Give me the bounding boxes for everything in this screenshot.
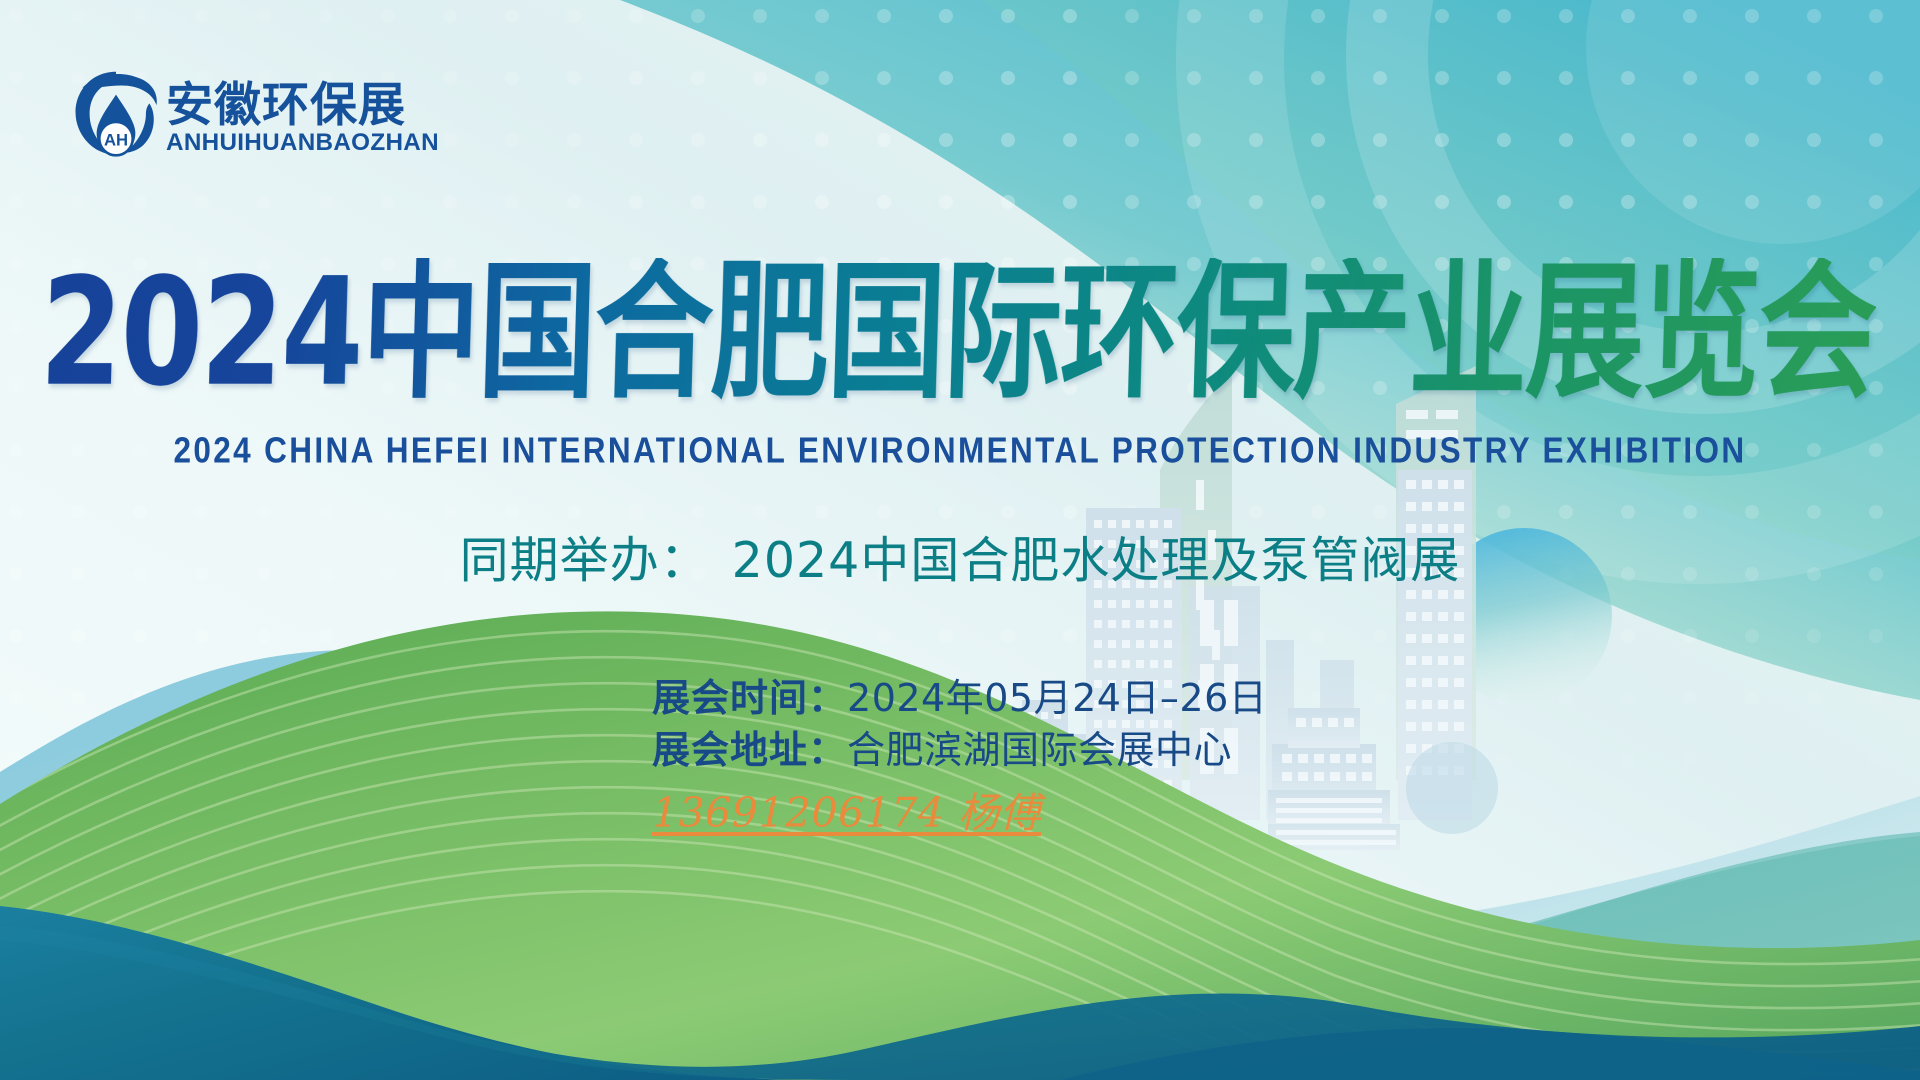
concurrent-event-name: 2024中国合肥水处理及泵管阀展 bbox=[732, 532, 1461, 589]
english-subtitle: 2024 CHINA HEFEI INTERNATIONAL ENVIRONME… bbox=[14, 430, 1905, 471]
exhibition-logo: AH 安徽环保展 ANHUIHUANBAOZHAN bbox=[72, 68, 442, 160]
event-address-value: 合肥滨湖国际会展中心 bbox=[847, 724, 1232, 776]
water-drop-leaf-icon: AH bbox=[72, 68, 160, 160]
logo-chinese-name: 安徽环保展 bbox=[166, 82, 442, 129]
event-date-row: 展会时间： 2024年05月24日–26日 bbox=[652, 672, 1267, 724]
main-title-wrap: 2024中国合肥国际环保产业展览会 bbox=[0, 258, 1920, 380]
concurrent-event-line: 同期举办：2024中国合肥水处理及泵管阀展 bbox=[0, 534, 1920, 588]
concurrent-label: 同期举办： bbox=[460, 532, 710, 589]
event-address-label: 展会地址： bbox=[652, 724, 847, 776]
contact-phone-name[interactable]: 13691206174 杨傅 bbox=[652, 779, 1267, 839]
event-info-block: 展会时间： 2024年05月24日–26日 展会地址： 合肥滨湖国际会展中心 1… bbox=[652, 672, 1267, 839]
event-date-label: 展会时间： bbox=[652, 672, 847, 724]
event-date-value: 2024年05月24日–26日 bbox=[847, 672, 1267, 724]
exhibition-banner: AH 安徽环保展 ANHUIHUANBAOZHAN 2024中国合肥国际环保产业… bbox=[0, 0, 1920, 1080]
logo-pinyin-name: ANHUIHUANBAOZHAN bbox=[166, 131, 439, 156]
page-title: 2024中国合肥国际环保产业展览会 bbox=[38, 258, 1877, 407]
event-address-row: 展会地址： 合肥滨湖国际会展中心 bbox=[652, 724, 1267, 776]
logo-badge-text: AH bbox=[104, 131, 128, 150]
